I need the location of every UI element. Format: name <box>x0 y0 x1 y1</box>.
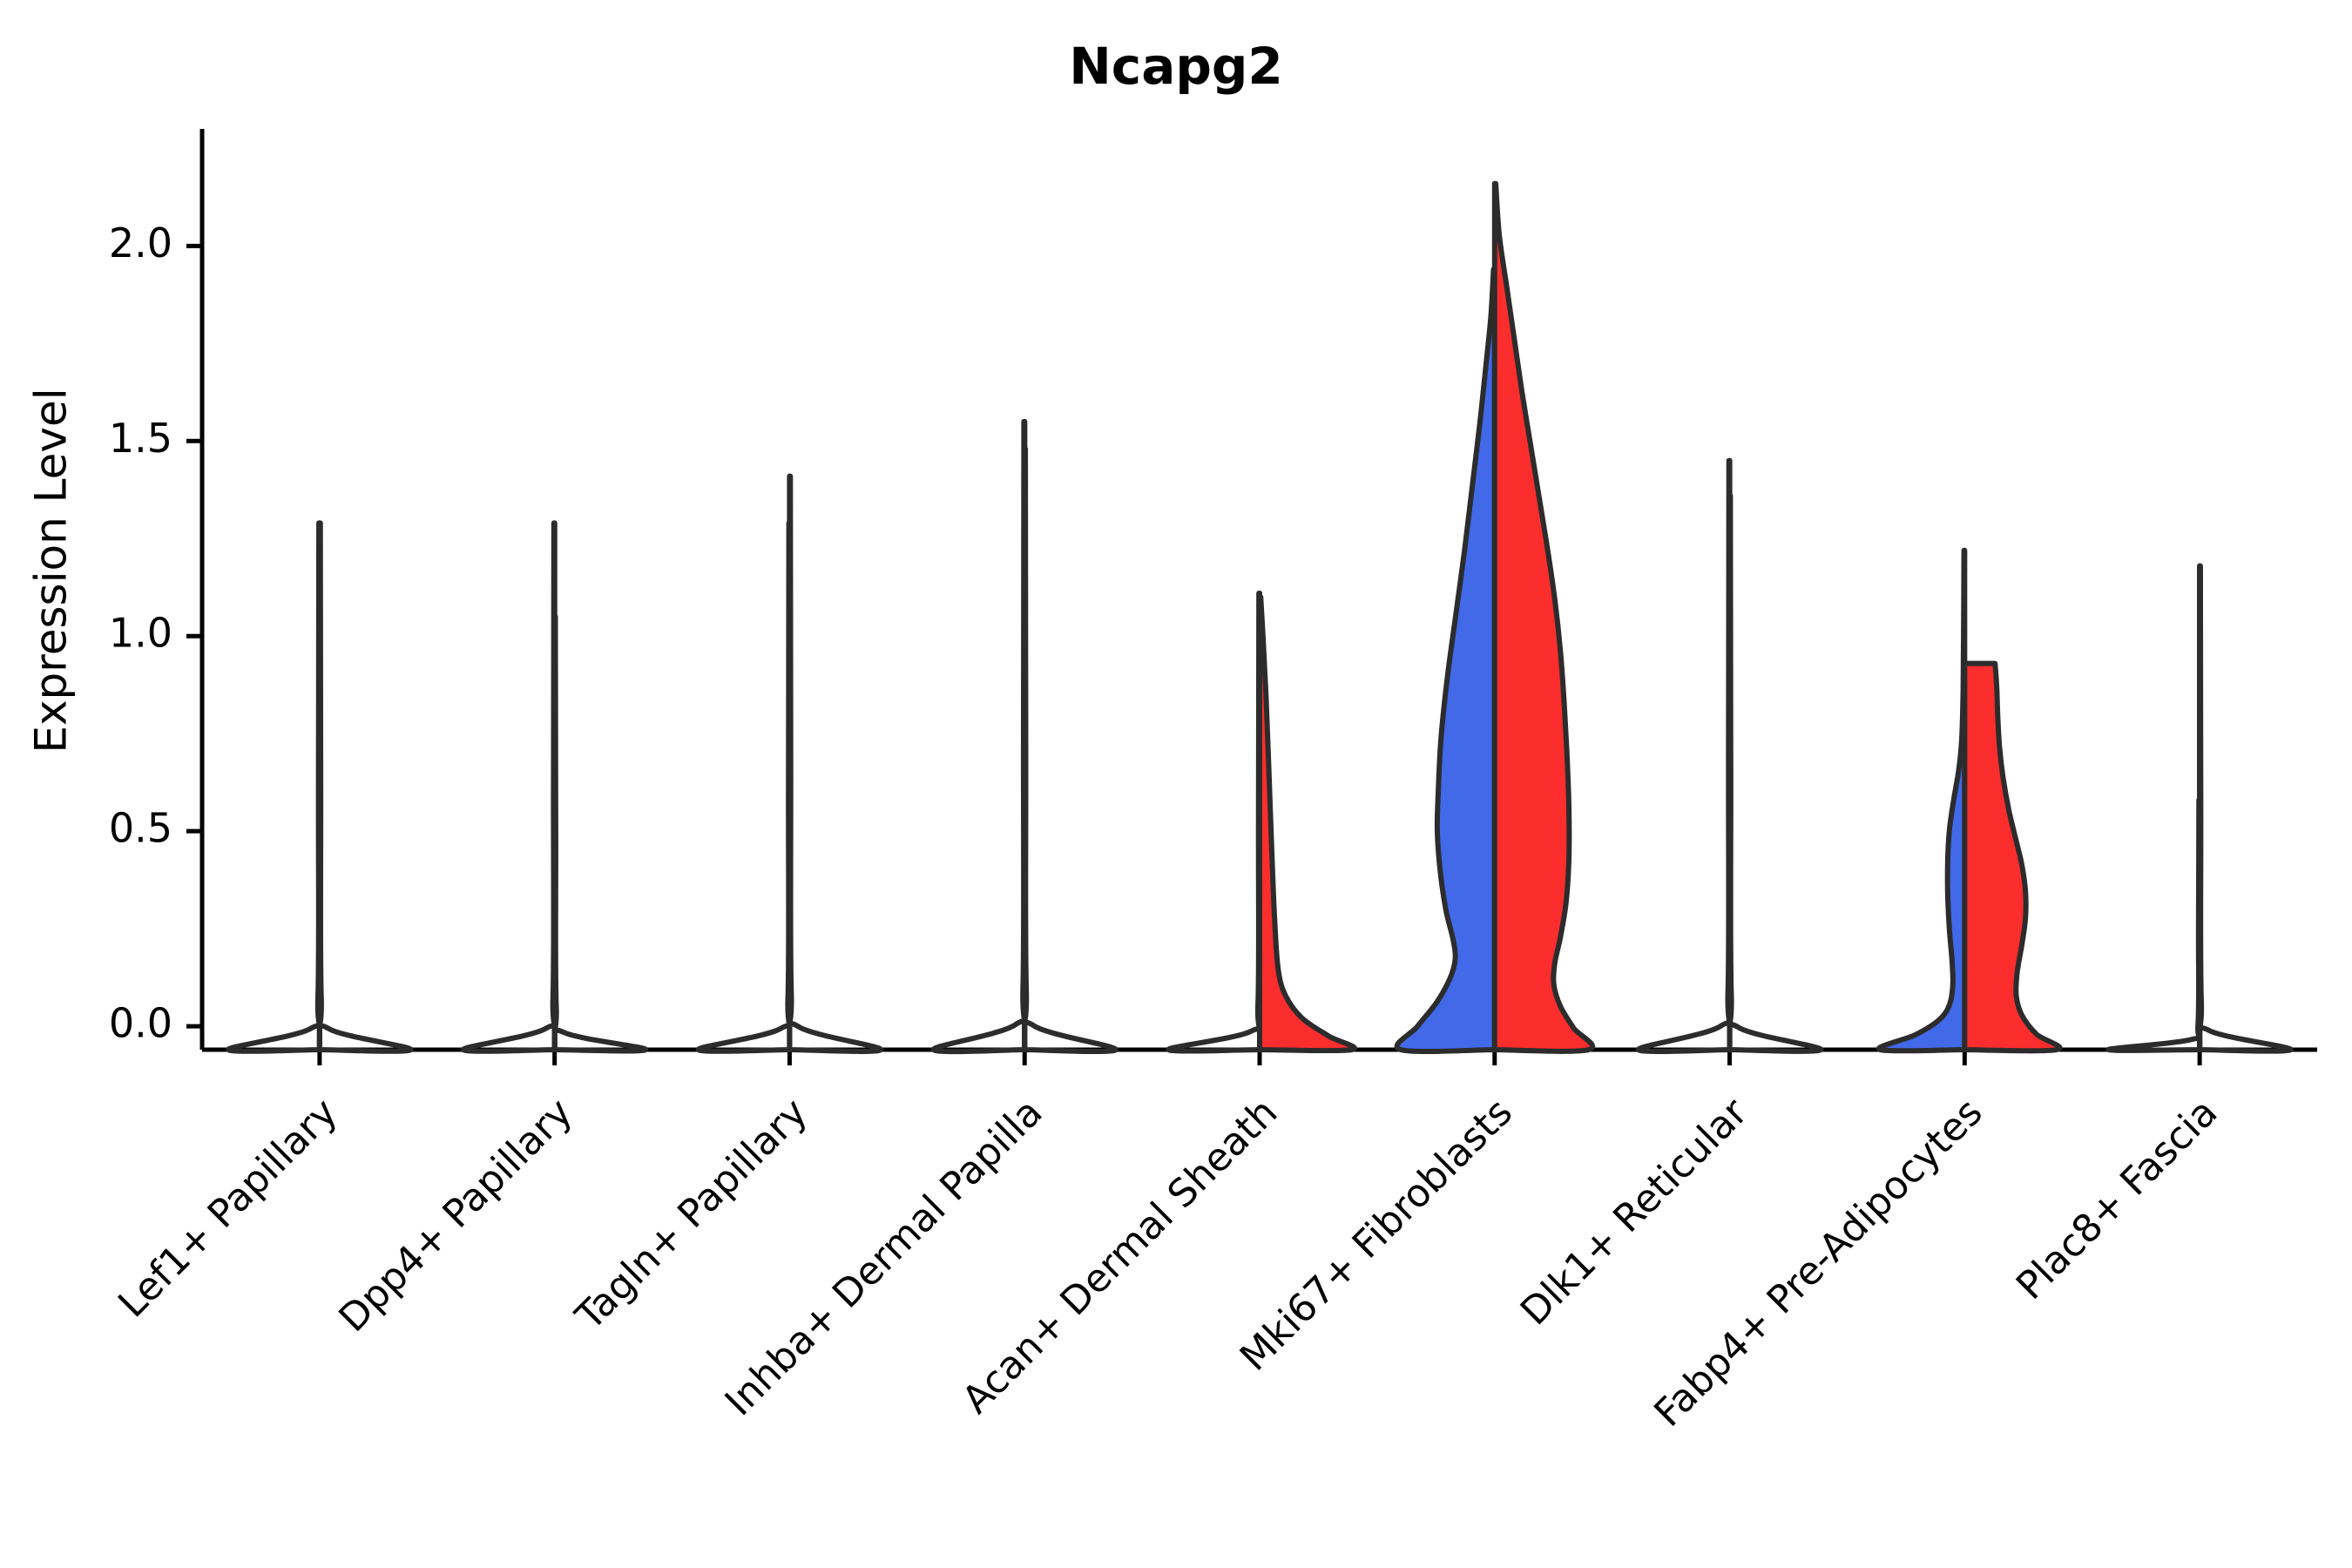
violin-plot-svg: Ncapg2 0.00.51.01.52.0 Expression Level … <box>0 0 2352 1568</box>
page-title: Ncapg2 <box>1069 37 1282 96</box>
y-tick-label: 0.5 <box>109 805 172 852</box>
violin-plot-figure: Ncapg2 0.00.51.01.52.0 Expression Level … <box>0 0 2352 1568</box>
y-tick-label: 1.0 <box>109 610 172 657</box>
y-tick-label: 2.0 <box>109 220 172 267</box>
y-tick-label: 1.5 <box>109 415 172 462</box>
y-tick-label: 0.0 <box>109 1000 172 1047</box>
y-axis-label: Expression Level <box>26 388 77 753</box>
